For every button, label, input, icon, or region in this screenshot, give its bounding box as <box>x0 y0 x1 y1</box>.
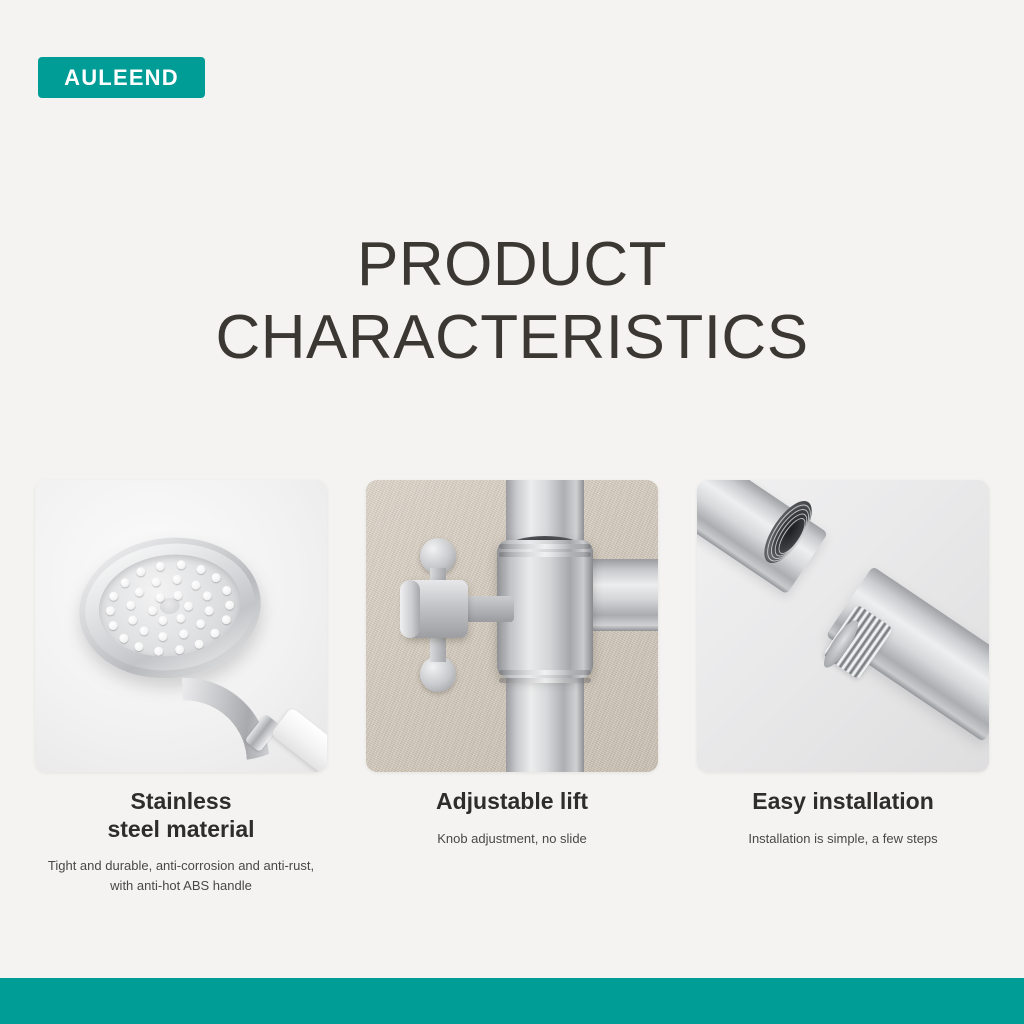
shower-nozzle <box>134 587 144 597</box>
feature-subtitle: Tight and durable, anti-corrosion and an… <box>35 856 327 895</box>
shower-head-illustration <box>35 480 327 772</box>
page-title-line-2: CHARACTERISTICS <box>0 301 1024 374</box>
shower-nozzle <box>194 639 204 649</box>
shower-nozzle <box>109 621 119 631</box>
female-pipe-section <box>697 480 828 594</box>
shower-nozzle <box>175 613 185 623</box>
page-title: PRODUCT CHARACTERISTICS <box>0 228 1024 374</box>
threaded-pipe-connection-photo <box>697 480 989 772</box>
feature-item-stainless-steel: Stainless steel material Tight and durab… <box>35 480 327 895</box>
adjustment-knob-cap <box>400 580 420 638</box>
feature-item-adjustable-lift: Adjustable lift Knob adjustment, no slid… <box>366 480 658 895</box>
riser-bracket-knob-photo <box>366 480 658 772</box>
shower-nozzle <box>202 591 212 601</box>
bracket-ring-upper-1 <box>499 544 591 549</box>
feature-title: Easy installation <box>697 788 989 816</box>
feature-title: Adjustable lift <box>366 788 658 816</box>
feature-subtitle: Installation is simple, a few steps <box>697 829 989 849</box>
shower-nozzle <box>134 642 144 652</box>
shower-nozzle <box>126 601 136 611</box>
feature-caption: Stainless steel material Tight and durab… <box>35 788 327 895</box>
shower-nozzle <box>157 615 167 625</box>
feature-list: Stainless steel material Tight and durab… <box>35 480 989 895</box>
horizontal-outlet-arm <box>584 559 658 631</box>
shower-nozzle <box>175 645 185 655</box>
brand-name: AULEEND <box>64 67 179 89</box>
shower-nozzle <box>147 605 157 615</box>
bracket-ring-lower-2 <box>499 678 591 683</box>
knob-stem-bottom <box>430 634 446 662</box>
bracket-ring-upper-2 <box>499 552 591 557</box>
brand-logo-badge: AULEEND <box>38 57 205 98</box>
shower-nozzle <box>196 619 206 629</box>
feature-title: Stainless steel material <box>35 788 327 843</box>
shower-nozzle <box>179 629 189 639</box>
shower-nozzle <box>195 564 205 574</box>
bottom-accent-bar <box>0 978 1024 1024</box>
shower-nozzle <box>172 575 182 585</box>
shower-nozzle <box>204 605 214 615</box>
shower-nozzle <box>136 567 146 577</box>
feature-caption: Adjustable lift Knob adjustment, no slid… <box>366 788 658 848</box>
shower-head-photo <box>35 480 327 772</box>
feature-item-easy-installation: Easy installation Installation is simple… <box>697 480 989 895</box>
shower-nozzle <box>176 560 186 570</box>
feature-subtitle: Knob adjustment, no slide <box>366 829 658 849</box>
shower-nozzle <box>183 601 193 611</box>
shower-nozzle <box>109 591 119 601</box>
shower-nozzle <box>191 580 201 590</box>
shower-nozzle <box>119 633 129 643</box>
shower-nozzle <box>151 577 161 587</box>
bracket-ring-lower-1 <box>499 670 591 675</box>
shower-nozzle <box>158 631 168 641</box>
shower-nozzle <box>210 628 220 638</box>
shower-nozzle <box>155 561 165 571</box>
shower-nozzle <box>139 626 149 636</box>
shower-nozzle <box>105 606 115 616</box>
shower-nozzle <box>225 600 235 610</box>
shower-nozzle <box>211 573 221 583</box>
page-title-line-1: PRODUCT <box>0 228 1024 301</box>
shower-nozzle <box>154 646 164 656</box>
shower-nozzle <box>128 615 138 625</box>
feature-caption: Easy installation Installation is simple… <box>697 788 989 848</box>
shower-nozzle <box>221 615 231 625</box>
shower-nozzle <box>221 585 231 595</box>
shower-nozzle <box>120 578 130 588</box>
